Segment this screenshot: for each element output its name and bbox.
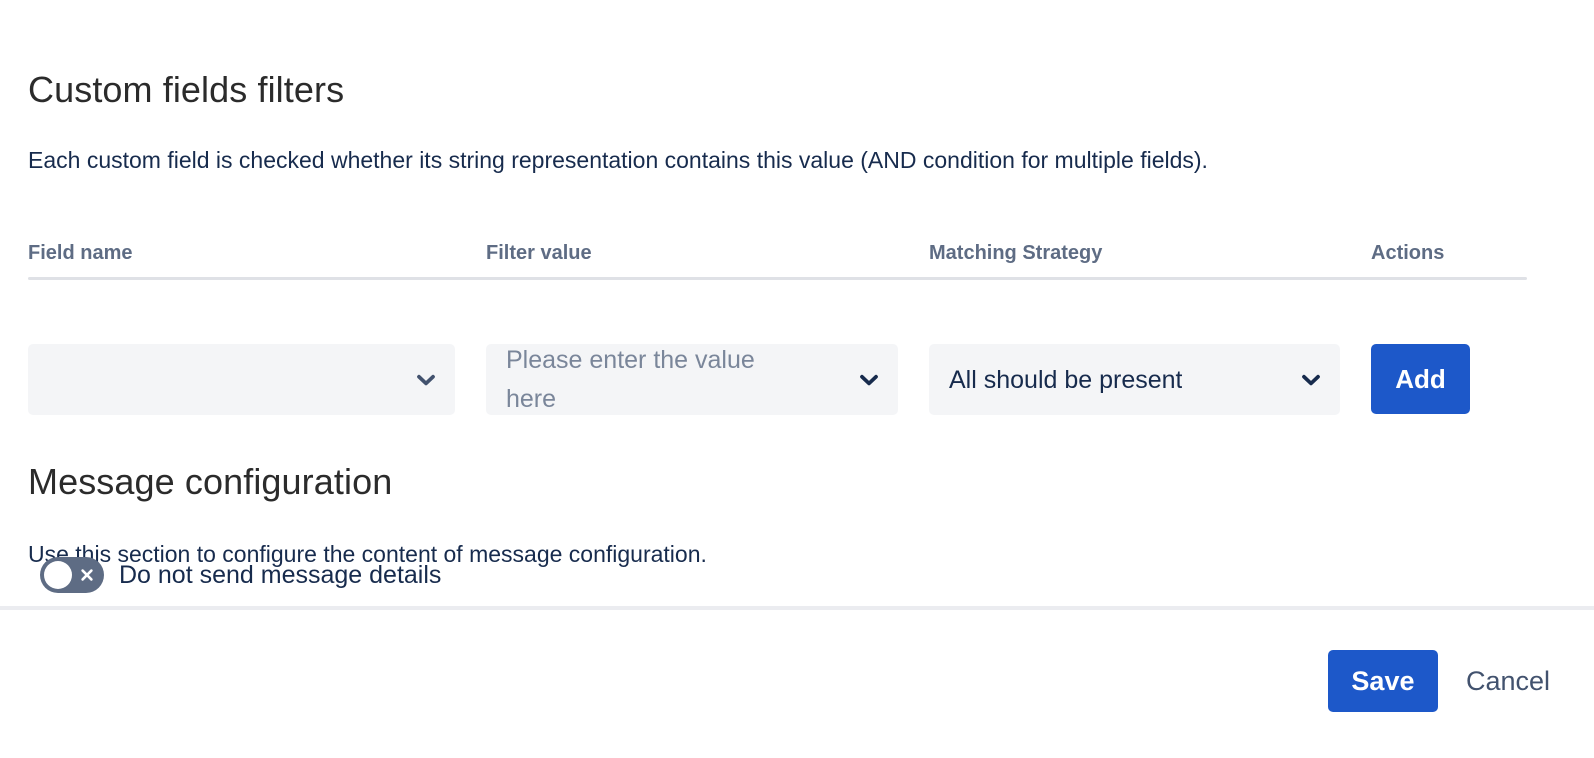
custom-fields-description: Each custom field is checked whether its… bbox=[28, 140, 1448, 180]
footer-actions: Save Cancel bbox=[1328, 650, 1570, 712]
add-button[interactable]: Add bbox=[1371, 344, 1470, 414]
cancel-button[interactable]: Cancel bbox=[1446, 650, 1570, 712]
page-title-message-configuration: Message configuration bbox=[28, 461, 392, 503]
cross-icon bbox=[79, 567, 95, 583]
settings-form-page: Custom fields filters Each custom field … bbox=[0, 0, 1594, 758]
save-button[interactable]: Save bbox=[1328, 650, 1438, 712]
column-header-filter-value: Filter value bbox=[486, 240, 592, 266]
column-header-actions: Actions bbox=[1371, 240, 1444, 266]
table-header-divider bbox=[28, 277, 1527, 280]
table-header-row: Field name Filter value Matching Strateg… bbox=[0, 240, 1594, 283]
matching-strategy-select-value: All should be present bbox=[949, 364, 1182, 396]
column-header-field-name: Field name bbox=[28, 240, 132, 266]
do-not-send-message-details-row: Do not send message details bbox=[40, 557, 441, 593]
field-name-select[interactable] bbox=[28, 344, 455, 415]
footer-divider bbox=[0, 606, 1594, 610]
table-row: Please enter the value here All should b… bbox=[0, 283, 1594, 369]
custom-fields-filters-table: Field name Filter value Matching Strateg… bbox=[0, 240, 1594, 369]
page-title-custom-fields-filters: Custom fields filters bbox=[28, 69, 344, 111]
chevron-down-icon bbox=[413, 367, 439, 393]
filter-value-select[interactable]: Please enter the value here bbox=[486, 344, 898, 415]
toggle-knob bbox=[44, 561, 72, 589]
do-not-send-message-details-toggle[interactable] bbox=[40, 557, 104, 593]
do-not-send-message-details-label: Do not send message details bbox=[119, 559, 441, 591]
filter-value-placeholder: Please enter the value here bbox=[506, 341, 806, 419]
matching-strategy-select[interactable]: All should be present bbox=[929, 344, 1340, 415]
column-header-matching-strategy: Matching Strategy bbox=[929, 240, 1102, 266]
chevron-down-icon bbox=[856, 367, 882, 393]
chevron-down-icon bbox=[1298, 367, 1324, 393]
